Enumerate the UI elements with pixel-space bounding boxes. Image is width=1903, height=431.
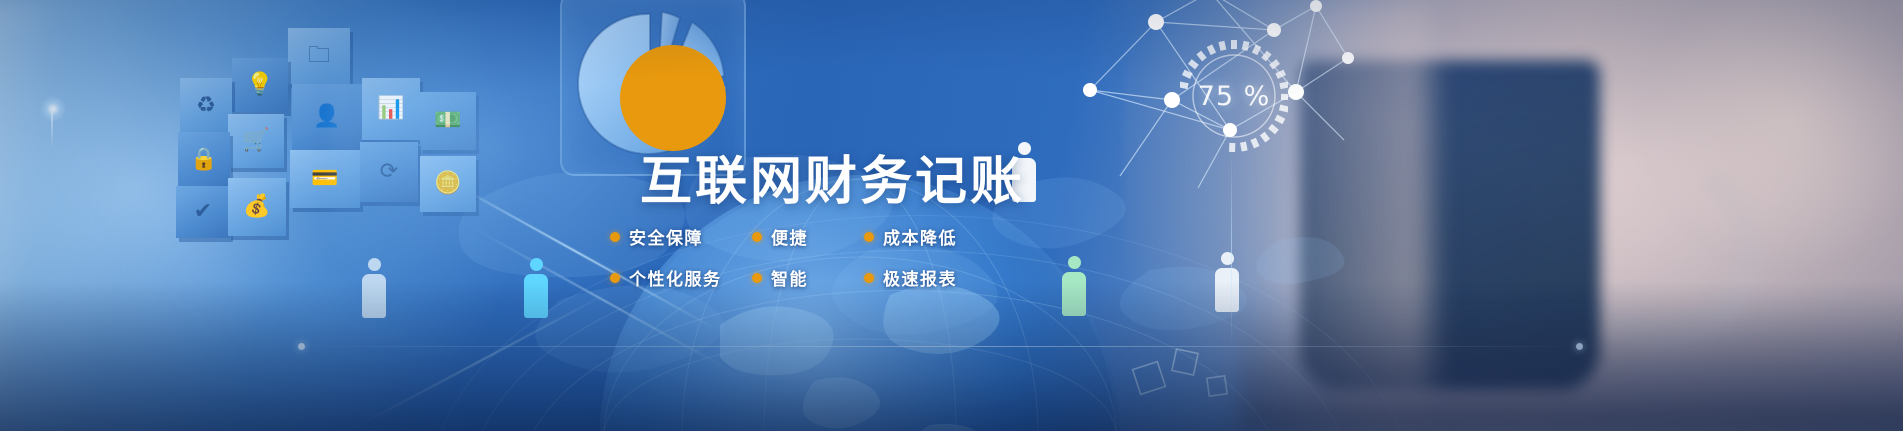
banner-root: 🗀 💡 ♻ 👤 📊 💵 🛒 🔒 💳 ⟳ 🪙 ✔ 💰 — [0, 0, 1903, 431]
vignette — [0, 0, 1903, 431]
